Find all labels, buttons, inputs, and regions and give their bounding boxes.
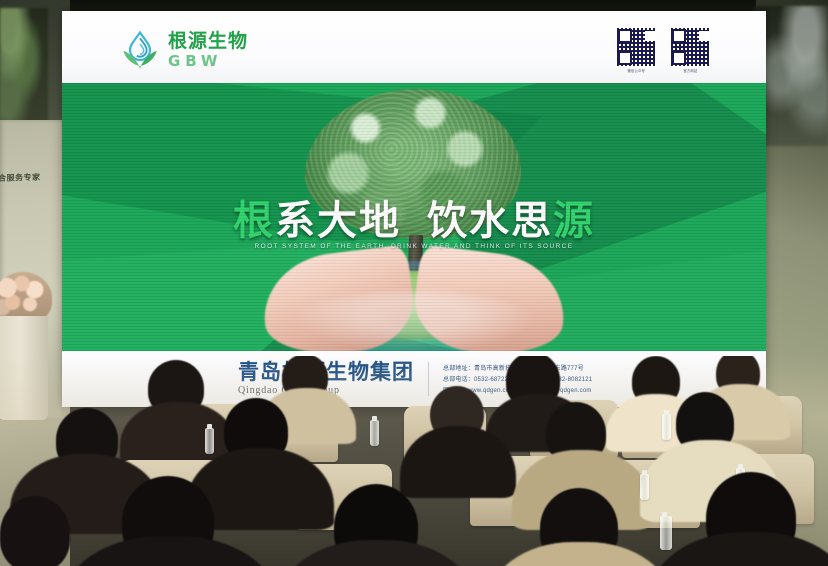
qr-item: 微信公众号: [616, 27, 656, 74]
slogan-char-2: 系大地: [275, 198, 401, 244]
logo-company-en: GBW: [168, 54, 248, 69]
slide-body: 根系大地饮水思源 ROOT SYSTEM OF THE EARTH, DRINK…: [62, 83, 766, 351]
side-banner-headline: 合服务专家: [0, 171, 62, 184]
audience-head: [0, 496, 70, 566]
projection-screen: 根源生物 GBW 微信公众号 官方网站: [62, 11, 766, 407]
qr-item: 官方网站: [670, 27, 710, 74]
audience-area: [0, 356, 828, 566]
qr-caption: 官方网站: [683, 69, 697, 74]
qr-code-group: 微信公众号 官方网站: [616, 27, 710, 74]
logo-company-cn: 根源生物: [168, 32, 248, 51]
water-bottle: [660, 516, 672, 550]
slide-slogan: 根系大地饮水思源: [233, 201, 595, 241]
conference-photo: 合服务专家 Center 根源生物 GBW: [0, 0, 828, 566]
slide-subslogan: ROOT SYSTEM OF THE EARTH, DRINK WATER AN…: [255, 243, 574, 250]
globe-highlight: [289, 291, 539, 351]
slogan-char-3: 饮水思: [427, 198, 553, 244]
brand-logo: 根源生物 GBW: [120, 29, 248, 71]
qr-code-icon: [670, 27, 710, 67]
slide-header-band: 根源生物 GBW 微信公众号 官方网站: [62, 11, 766, 83]
water-drop-leaf-icon: [120, 29, 160, 71]
water-bottle: [205, 428, 214, 454]
slogan-char-4: 源: [553, 198, 595, 244]
water-bottle: [662, 414, 671, 440]
qr-code-icon: [616, 27, 656, 67]
left-foliage-decor: [0, 8, 48, 128]
qr-caption: 微信公众号: [627, 69, 645, 74]
water-bottle: [370, 420, 379, 446]
water-bottle: [640, 474, 649, 500]
slogan-char-1: 根: [233, 198, 275, 244]
